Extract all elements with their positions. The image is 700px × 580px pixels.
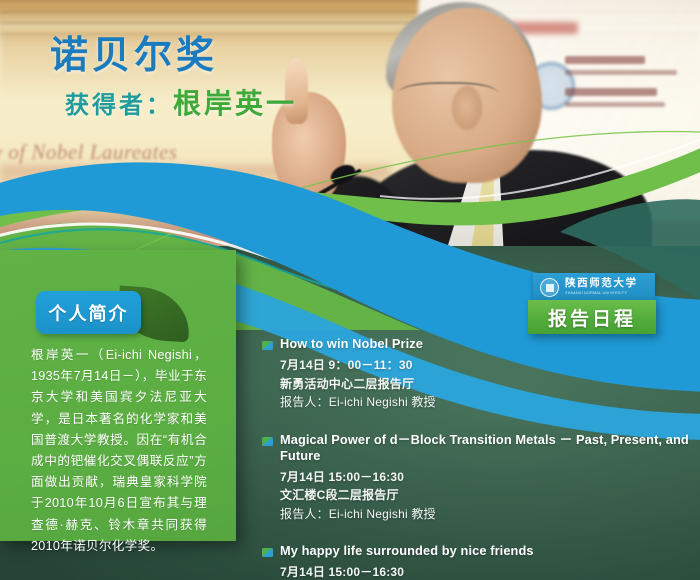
- title-laureate-name: 根岸英一: [173, 87, 297, 120]
- bullet-square-icon: [262, 548, 273, 557]
- schedule-item: How to win Nobel Prize 7月14日 9：00－11：30 …: [262, 336, 692, 412]
- profile-badge: 个人简介: [36, 291, 141, 334]
- title-laureate-label: 获得者：: [65, 91, 173, 119]
- university-names: 陕西师范大学 SHAANXI NORMAL UNIVERSITY: [565, 279, 638, 296]
- schedule-item-venue: 新勇活动中心二层报告厅: [280, 375, 692, 394]
- bullet-square-icon: [262, 341, 273, 350]
- schedule-item-time: 7月14日 9：00－11：30: [280, 356, 692, 375]
- speaker-glasses: [398, 82, 498, 110]
- profile-badge-label: 个人简介: [49, 300, 129, 326]
- schedule-item-time: 7月14日 15:00－16:30: [280, 563, 692, 580]
- poster-root: ry of Nobel Laureates: [0, 0, 700, 580]
- schedule-item-time: 7月14日 15:00－16:30: [280, 468, 692, 487]
- schedule-item-venue: 文汇楼C段二层报告厅: [280, 486, 692, 505]
- schedule-badge-label: 报告日程: [548, 304, 636, 331]
- schedule-item-speaker: 报告人：Ei-ichi Negishi 教授: [280, 393, 692, 412]
- university-name-cn: 陕西师范大学: [565, 279, 638, 290]
- university-seal-icon: [540, 278, 559, 297]
- university-name-en: SHAANXI NORMAL UNIVERSITY: [565, 292, 638, 296]
- schedule-badge: 报告日程: [528, 300, 656, 334]
- schedule-item-title: My happy life surrounded by nice friends: [280, 543, 692, 559]
- poster-title: 诺贝尔奖 获得者：根岸英一: [50, 36, 297, 122]
- schedule-list: How to win Nobel Prize 7月14日 9：00－11：30 …: [262, 336, 692, 580]
- title-main: 诺贝尔奖: [50, 36, 297, 76]
- university-logo-bar: 陕西师范大学 SHAANXI NORMAL UNIVERSITY: [533, 273, 655, 302]
- schedule-item-speaker: 报告人：Ei-ichi Negishi 教授: [280, 505, 692, 524]
- profile-bio-text: 根岸英一（Ei-ichi Negishi，1935年7月14日－），毕业于东京大…: [31, 345, 207, 557]
- schedule-item: My happy life surrounded by nice friends…: [262, 543, 692, 580]
- bullet-square-icon: [262, 437, 273, 446]
- schedule-item-title: How to win Nobel Prize: [280, 336, 692, 352]
- schedule-item: Magical Power of d－Block Transition Meta…: [262, 432, 692, 524]
- title-subline: 获得者：根岸英一: [65, 82, 297, 122]
- schedule-item-title: Magical Power of d－Block Transition Meta…: [280, 432, 692, 464]
